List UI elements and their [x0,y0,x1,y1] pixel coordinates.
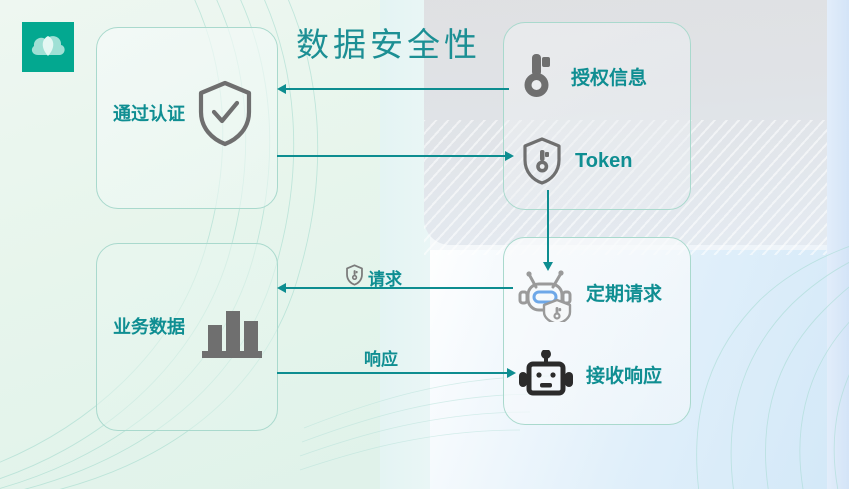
token-to-agent-arrow-line [547,190,549,264]
label-periodic-request: 定期请求 [586,279,662,306]
label-response: 响应 [364,345,398,370]
shield-check-icon [196,78,254,153]
auth-response-arrow-line [285,88,509,90]
page-title: 数据安全性 [296,18,481,66]
cloud-leaf-logo [22,22,74,72]
robot-filled-icon [516,350,576,398]
auth-response-arrow-head [277,84,286,94]
key-icon [521,52,561,100]
robot-shield-icon [516,262,576,322]
row-receive-response[interactable]: 接收响应 [516,350,662,398]
label-business-data: 业务数据 [113,313,185,339]
token-to-agent-arrow-head [543,262,553,271]
data-request-arrow-label: 请求 [345,264,402,291]
background-blue-edge [827,0,849,489]
label-request: 请求 [368,265,402,290]
token-request-arrow-line [277,155,507,157]
slide-canvas: 数据安全性 通过认证 业务数据 授权信息 [0,0,849,489]
label-token: Token [575,150,632,173]
token-request-arrow-head [505,151,514,161]
data-response-arrow-label: 响应 [364,345,398,370]
label-authorization-info: 授权信息 [571,63,647,90]
row-authorization-info[interactable]: 授权信息 [521,52,647,100]
row-periodic-request[interactable]: 定期请求 [516,262,662,322]
shield-key-icon [521,136,563,186]
data-request-arrow-head [277,283,286,293]
shield-key-icon [345,264,364,291]
label-receive-response: 接收响应 [586,361,662,388]
row-token[interactable]: Token [521,136,632,186]
label-authenticated: 通过认证 [113,100,185,126]
logo-glyph [22,22,74,72]
data-response-arrow-line [277,372,509,374]
data-response-arrow-head [507,368,516,378]
bar-chart-icon [200,303,264,364]
